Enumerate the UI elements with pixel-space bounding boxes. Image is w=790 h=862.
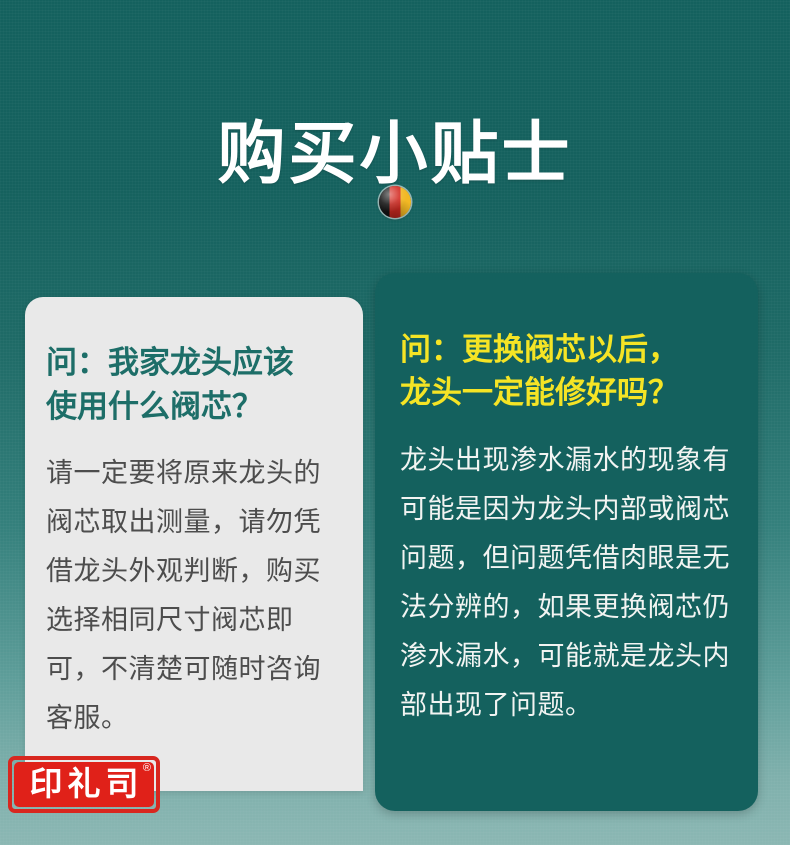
german-flag-badge <box>379 186 411 218</box>
faq-answer-left: 请一定要将原来龙头的阀芯取出测量，请勿凭借龙头外观判断，购买选择相同尺寸阀芯即可… <box>46 449 343 743</box>
brand-logo: 印礼司 ® <box>8 756 160 813</box>
promo-page: 购买小贴士 问：我家龙头应该 使用什么阀芯？ 请一定要将原来龙头的阀芯取出测量，… <box>0 0 790 862</box>
faq-card-left: 问：我家龙头应该 使用什么阀芯？ 请一定要将原来龙头的阀芯取出测量，请勿凭借龙头… <box>25 297 363 791</box>
page-title: 购买小贴士 <box>0 114 790 194</box>
badge-gloss-overlay <box>379 186 411 218</box>
registered-trademark-icon: ® <box>143 763 151 774</box>
faq-answer-right: 龙头出现渗水漏水的现象有可能是因为龙头内部或阀芯问题，但问题凭借肉眼是无法分辨的… <box>400 436 738 730</box>
faq-card-right: 问：更换阀芯以后， 龙头一定能修好吗？ 龙头出现渗水漏水的现象有可能是因为龙头内… <box>375 273 758 811</box>
bottom-white-strip <box>0 845 790 862</box>
faq-question-right: 问：更换阀芯以后， 龙头一定能修好吗？ <box>400 328 738 414</box>
faq-question-left: 问：我家龙头应该 使用什么阀芯？ <box>46 341 343 429</box>
logo-brand-name: 印礼司 <box>8 763 160 804</box>
